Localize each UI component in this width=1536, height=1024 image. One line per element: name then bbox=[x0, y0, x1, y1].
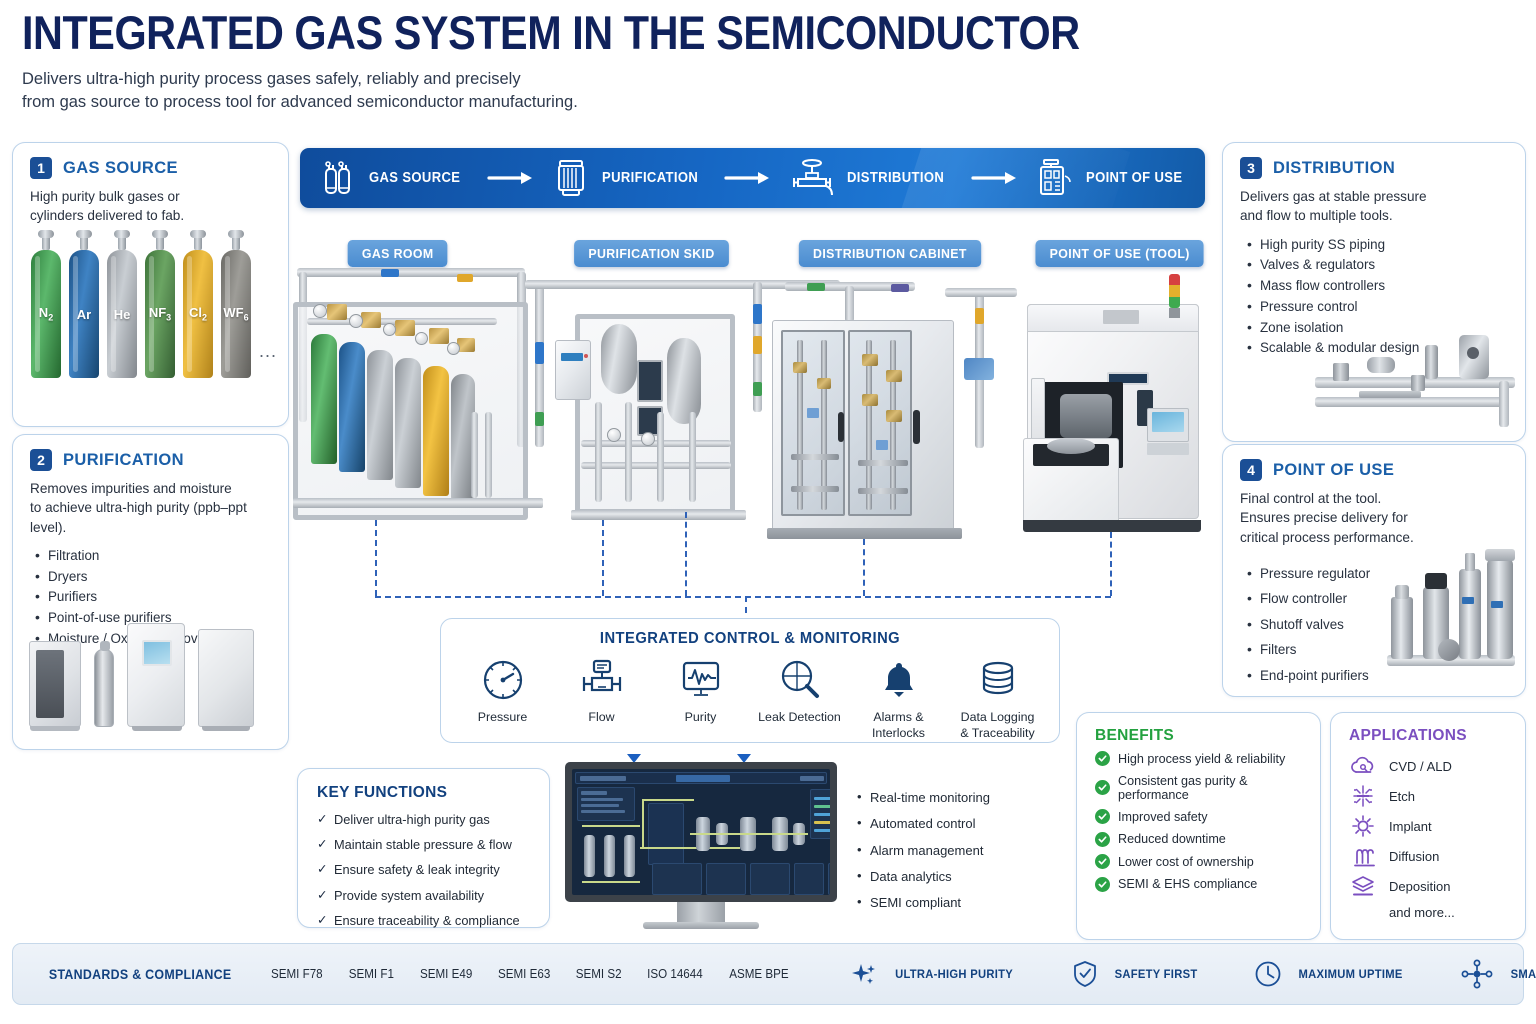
integrated-control-monitoring-panel: INTEGRATED CONTROL & MONITORING Pressure bbox=[440, 618, 1060, 743]
card-purification: 2 PURIFICATION Removes impurities and mo… bbox=[12, 434, 289, 750]
list-item: Maintain stable pressure & flow bbox=[317, 832, 549, 857]
control-item-label: Pressure bbox=[478, 710, 528, 726]
process-flow-banner: GAS SOURCE PURIFICATION bbox=[300, 148, 1205, 208]
tower-red bbox=[1169, 274, 1180, 285]
gas-cylinder: He bbox=[107, 228, 137, 378]
scada-vessel bbox=[584, 835, 595, 877]
gas-cylinder: Ar bbox=[69, 228, 99, 378]
scada-trend-bar bbox=[814, 797, 830, 800]
list-item: Valves & regulators bbox=[1245, 255, 1525, 276]
list-item: Data analytics bbox=[855, 864, 1035, 890]
cylinder-body: Ar bbox=[69, 250, 99, 378]
etch-plasma-icon bbox=[1349, 784, 1377, 808]
label-line-1: Flow bbox=[588, 710, 614, 726]
banner-step-label: DISTRIBUTION bbox=[847, 170, 944, 186]
subtitle-line-2: from gas source to process tool for adva… bbox=[22, 91, 1222, 114]
pressure-gauge bbox=[349, 314, 363, 328]
purifier-unit-with-display-image bbox=[127, 623, 185, 727]
brass-valve bbox=[361, 312, 381, 328]
scada-title-text bbox=[676, 775, 730, 782]
pressure-gauge bbox=[607, 428, 621, 442]
card-purification-desc: Removes impurities and moisture to achie… bbox=[13, 479, 288, 537]
scada-text bbox=[581, 810, 625, 813]
status-led bbox=[584, 354, 588, 358]
purification-equipment-images bbox=[29, 623, 254, 727]
valve-icon bbox=[788, 156, 836, 200]
banner-arrow-3 bbox=[971, 170, 1019, 186]
sparkle-icon bbox=[849, 959, 879, 989]
manifold-knob bbox=[1467, 347, 1479, 359]
manifold-drop-pipe bbox=[1499, 381, 1509, 427]
pipe-band-yellow bbox=[457, 274, 473, 282]
cabinet-inlet-pipe bbox=[845, 286, 854, 322]
internal-valve bbox=[817, 378, 831, 389]
connector-distribution bbox=[863, 539, 865, 596]
card-number-badge: 4 bbox=[1240, 459, 1262, 481]
scada-trend-bar bbox=[814, 829, 830, 832]
monitor-screen bbox=[572, 769, 830, 895]
skid-top-pipe bbox=[585, 280, 735, 289]
list-item: Ensure traceability & compliance bbox=[317, 908, 549, 933]
diffusion-heat-icon bbox=[1349, 844, 1377, 868]
control-box bbox=[555, 340, 591, 400]
banner-step-label: GAS SOURCE bbox=[369, 170, 460, 186]
footer-badge-label: SAFETY FIRST bbox=[1115, 967, 1198, 981]
signal-tower-icon bbox=[1169, 274, 1180, 308]
skid-pipe bbox=[625, 402, 632, 502]
pou-flow-controller bbox=[1438, 639, 1460, 661]
purifier-vessel bbox=[601, 324, 637, 394]
database-icon bbox=[975, 657, 1021, 703]
scada-bottom-panel bbox=[750, 863, 790, 895]
rack-cylinder-cl2 bbox=[423, 366, 449, 496]
internal-pipe bbox=[791, 486, 839, 492]
pou-regulator-stem bbox=[1465, 553, 1475, 571]
gas-cylinder: N2 bbox=[31, 228, 61, 378]
manifold-fitting bbox=[1333, 363, 1349, 381]
card-point-of-use-desc: Final control at the tool. Ensures preci… bbox=[1223, 489, 1525, 547]
tower-green bbox=[1169, 297, 1180, 308]
pou-blue-label bbox=[1491, 601, 1503, 608]
check-circle-icon bbox=[1095, 751, 1110, 766]
tool-vent-grille bbox=[1103, 310, 1139, 324]
control-item-purity: Purity bbox=[651, 657, 750, 741]
purifier-cabinet-open-image bbox=[29, 641, 81, 727]
banner-step-purification: PURIFICATION bbox=[551, 156, 709, 200]
process-tool-icon bbox=[1035, 156, 1075, 200]
applications-list: CVD / ALD Etch Implant Diffusion bbox=[1331, 751, 1525, 901]
check-circle-icon bbox=[1095, 780, 1110, 795]
internal-valve bbox=[886, 370, 902, 382]
control-item-label: Leak Detection bbox=[758, 710, 841, 726]
panel-pipe bbox=[485, 412, 492, 498]
skid-pipe bbox=[595, 402, 602, 502]
equipment-scene bbox=[285, 262, 1210, 617]
scada-pipeline bbox=[644, 799, 694, 801]
card-distribution-desc: Delivers gas at stable pressure and flow… bbox=[1223, 187, 1525, 226]
scada-monitor-image bbox=[565, 762, 845, 930]
application-label: Diffusion bbox=[1389, 849, 1439, 864]
list-item: Alarm management bbox=[855, 838, 1035, 864]
cylinder-label: He bbox=[114, 307, 131, 322]
shield-check-icon bbox=[1070, 959, 1100, 989]
standard-item: SEMI S2 bbox=[576, 967, 622, 981]
label-line-1: Purity bbox=[685, 710, 717, 726]
scada-text bbox=[581, 804, 619, 807]
card-number-badge: 1 bbox=[30, 157, 52, 179]
internal-indicator bbox=[876, 440, 888, 450]
standard-item: ASME BPE bbox=[729, 967, 788, 981]
footer-badge-ultra-high-purity: ULTRA-HIGH PURITY bbox=[849, 959, 1018, 989]
scada-chart-panel bbox=[828, 863, 830, 895]
desc-line-3: critical process performance. bbox=[1240, 528, 1513, 547]
pipe-band-yellow bbox=[975, 308, 984, 324]
gas-cylinder: NF3 bbox=[145, 228, 175, 378]
scada-pipeline bbox=[582, 881, 640, 883]
footer-bar: STANDARDS & COMPLIANCE SEMI F78 SEMI F1 … bbox=[12, 943, 1524, 1005]
pressure-gauge bbox=[447, 342, 460, 355]
list-item: Reduced downtime bbox=[1095, 832, 1320, 847]
control-item-pressure: Pressure bbox=[453, 657, 552, 741]
connector-purification-a bbox=[602, 520, 604, 596]
list-item: Filtration bbox=[33, 546, 288, 567]
scada-bottom-panel bbox=[706, 863, 746, 895]
pipe-band-purple bbox=[891, 284, 909, 292]
standard-item: SEMI E63 bbox=[498, 967, 550, 981]
pou-valve-cap bbox=[1395, 585, 1409, 599]
list-item: Provide system availability bbox=[317, 883, 549, 908]
card-applications: APPLICATIONS CVD / ALD Etch Implant bbox=[1330, 712, 1526, 940]
list-item: Diffusion bbox=[1349, 841, 1525, 871]
applications-more-label: and more... bbox=[1331, 905, 1525, 920]
control-box-display bbox=[561, 353, 583, 361]
card-number-badge: 2 bbox=[30, 449, 52, 471]
card-gas-source: 1 GAS SOURCE High purity bulk gases or c… bbox=[12, 142, 289, 427]
benefit-label: Consistent gas purity & performance bbox=[1118, 774, 1320, 802]
standard-item: ISO 14644 bbox=[648, 967, 704, 981]
alarm-bell-icon bbox=[876, 657, 922, 703]
scada-trend-bar bbox=[814, 813, 830, 816]
list-item: Pressure control bbox=[1245, 297, 1525, 318]
check-circle-icon bbox=[1095, 809, 1110, 824]
cylinder-label: Ar bbox=[77, 307, 91, 322]
internal-valve bbox=[793, 362, 807, 373]
process-chamber bbox=[1060, 394, 1112, 438]
rack-cylinder-ar bbox=[339, 342, 365, 472]
scada-status-text bbox=[800, 776, 824, 781]
pipe-band-green bbox=[753, 382, 762, 396]
scada-trend-bar bbox=[814, 805, 830, 808]
standards-label: STANDARDS & COMPLIANCE bbox=[49, 967, 231, 982]
control-item-label: Flow bbox=[588, 710, 614, 726]
cylinder-valve-icon bbox=[190, 228, 206, 250]
card-title: GAS SOURCE bbox=[63, 159, 178, 178]
list-item: Consistent gas purity & performance bbox=[1095, 774, 1320, 802]
skid-pipe bbox=[657, 412, 664, 502]
cabinet-internal-piping bbox=[787, 336, 839, 510]
control-item-label: Purity bbox=[685, 710, 717, 726]
control-panel-title: INTEGRATED CONTROL & MONITORING bbox=[456, 630, 1043, 648]
manifold-valve-stem bbox=[1425, 345, 1438, 379]
check-circle-icon bbox=[1095, 854, 1110, 869]
card-key-functions: KEY FUNCTIONS Deliver ultra-high purity … bbox=[297, 768, 550, 928]
cabinet-internal-piping bbox=[854, 336, 906, 510]
transfer-pipe-top bbox=[945, 288, 1017, 297]
list-item: Dryers bbox=[33, 567, 288, 588]
benefit-label: Lower cost of ownership bbox=[1118, 855, 1254, 869]
card-distribution: 3 DISTRIBUTION Delivers gas at stable pr… bbox=[1222, 142, 1526, 442]
skid-pipe bbox=[689, 412, 696, 502]
tower-base bbox=[1169, 308, 1180, 318]
pou-black-cap bbox=[1425, 573, 1447, 589]
benefit-label: High process yield & reliability bbox=[1118, 752, 1285, 766]
list-item: Implant bbox=[1349, 811, 1525, 841]
cylinder-label: Cl2 bbox=[189, 305, 207, 323]
transfer-pipe bbox=[975, 370, 984, 448]
scada-bottom-panel bbox=[794, 863, 824, 895]
internal-pipe bbox=[890, 340, 896, 510]
card-benefits: BENEFITS High process yield & reliabilit… bbox=[1076, 712, 1321, 940]
desc-line-2: Ensures precise delivery for bbox=[1240, 508, 1513, 527]
label-line-1: Data Logging bbox=[960, 710, 1034, 726]
cylinder-label: WF6 bbox=[223, 305, 248, 323]
list-item: SEMI compliant bbox=[855, 890, 1035, 916]
pou-valve-body bbox=[1391, 597, 1413, 659]
gas-cylinder: Cl2 bbox=[183, 228, 213, 378]
key-functions-title: KEY FUNCTIONS bbox=[298, 769, 549, 807]
footer-badge-label: MAXIMUM UPTIME bbox=[1299, 967, 1403, 981]
point-of-use-valve-block-image bbox=[1383, 545, 1523, 685]
pou-valve-top bbox=[1485, 549, 1515, 561]
tower-yellow bbox=[1169, 285, 1180, 296]
infographic-page: INTEGRATED GAS SYSTEM IN THE SEMICONDUCT… bbox=[0, 0, 1536, 1024]
implant-sun-icon bbox=[1349, 814, 1377, 838]
standard-item: SEMI E49 bbox=[420, 967, 472, 981]
control-item-data-logging: Data Logging & Traceability bbox=[948, 657, 1047, 741]
application-label: Deposition bbox=[1389, 879, 1450, 894]
list-item: Ensure safety & leak integrity bbox=[317, 857, 549, 882]
list-item: Mass flow controllers bbox=[1245, 276, 1525, 297]
wafer-disc bbox=[1047, 438, 1095, 454]
scada-tank bbox=[648, 803, 684, 865]
internal-indicator bbox=[807, 408, 819, 418]
banner-step-distribution: DISTRIBUTION bbox=[788, 156, 955, 200]
list-item: Lower cost of ownership bbox=[1095, 854, 1320, 869]
cylinder-body: NF3 bbox=[145, 250, 175, 378]
list-item: Etch bbox=[1349, 781, 1525, 811]
list-item: High purity SS piping bbox=[1245, 235, 1525, 256]
footer-badge-safety-first: SAFETY FIRST bbox=[1070, 959, 1201, 989]
pipe-band-yellow bbox=[753, 336, 762, 354]
desc-line-2: and flow to multiple tools. bbox=[1240, 206, 1513, 225]
internal-pipe bbox=[858, 488, 908, 494]
connector-gas-room bbox=[375, 520, 377, 596]
card-gas-source-header: 1 GAS SOURCE bbox=[13, 143, 288, 179]
manifold-crossbar bbox=[1359, 391, 1421, 398]
pressure-gauge bbox=[641, 432, 655, 446]
cylinder-body: N2 bbox=[31, 250, 61, 378]
check-circle-icon bbox=[1095, 877, 1110, 892]
card-title: POINT OF USE bbox=[1273, 461, 1394, 480]
pressure-gauge-icon bbox=[480, 657, 526, 703]
list-item: Purifiers bbox=[33, 587, 288, 608]
scada-pipeline bbox=[642, 799, 644, 849]
scada-text bbox=[581, 791, 607, 795]
label-line-1: Pressure bbox=[478, 710, 528, 726]
control-item-label: Data Logging & Traceability bbox=[960, 710, 1034, 741]
cylinder-valve-icon bbox=[38, 228, 54, 250]
cylinder-body: Cl2 bbox=[183, 250, 213, 378]
control-item-flow: Flow bbox=[552, 657, 651, 741]
control-item-alarms-interlocks: Alarms & Interlocks bbox=[849, 657, 948, 741]
cylinder-label: NF3 bbox=[149, 305, 171, 323]
gas-cylinders-icon bbox=[318, 158, 358, 198]
benefits-list: High process yield & reliability Consist… bbox=[1077, 751, 1320, 892]
cylinder-valve-icon bbox=[152, 228, 168, 250]
list-item: High process yield & reliability bbox=[1095, 751, 1320, 766]
card-distribution-header: 3 DISTRIBUTION bbox=[1223, 143, 1525, 179]
clock-icon bbox=[1253, 959, 1283, 989]
scada-trend-bar bbox=[814, 821, 830, 824]
cylinder-label: N2 bbox=[39, 305, 53, 323]
pressure-gauge bbox=[415, 332, 428, 345]
list-item: CVD / ALD bbox=[1349, 751, 1525, 781]
rack-cylinder-nf3 bbox=[395, 358, 421, 488]
cylinder-valve-icon bbox=[76, 228, 92, 250]
pressure-gauge bbox=[313, 304, 327, 318]
deposition-layers-icon bbox=[1349, 874, 1377, 898]
pou-shutoff-valve-body bbox=[1487, 559, 1513, 659]
label-line-1: Leak Detection bbox=[758, 710, 841, 726]
scada-vessel bbox=[604, 835, 615, 877]
rack-cylinder-n2 bbox=[311, 334, 337, 464]
list-item: Real-time monitoring bbox=[855, 785, 1035, 811]
card-title: DISTRIBUTION bbox=[1273, 159, 1395, 178]
list-item: Automated control bbox=[855, 811, 1035, 837]
gas-cylinder: WF6 bbox=[221, 228, 251, 378]
distribution-manifold-image bbox=[1315, 331, 1520, 431]
scada-logo-text bbox=[580, 776, 626, 781]
banner-step-point-of-use: POINT OF USE bbox=[1035, 156, 1193, 200]
monitor-stand bbox=[677, 902, 725, 924]
brass-valve bbox=[429, 328, 449, 344]
card-title: PURIFICATION bbox=[63, 451, 184, 470]
banner-step-label: POINT OF USE bbox=[1086, 170, 1182, 186]
connector-purification-b bbox=[685, 512, 687, 596]
list-item: Deliver ultra-high purity gas bbox=[317, 807, 549, 832]
pou-blue-label bbox=[1462, 597, 1474, 604]
purifier-vessel bbox=[667, 338, 701, 424]
filter-canister-icon bbox=[551, 156, 591, 200]
list-item: Improved safety bbox=[1095, 809, 1320, 824]
cabinet-glass-door-right[interactable] bbox=[848, 330, 912, 516]
manifold-gauge bbox=[1367, 357, 1395, 373]
desc-line-1: Delivers gas at stable pressure bbox=[1240, 187, 1513, 206]
label-line-2: Interlocks bbox=[872, 726, 925, 742]
page-subtitle: Delivers ultra-high purity process gases… bbox=[22, 68, 1222, 115]
application-label: Implant bbox=[1389, 819, 1432, 834]
hmi-keypad[interactable] bbox=[1147, 443, 1189, 455]
scada-text bbox=[581, 798, 623, 801]
banner-step-gas-source: GAS SOURCE bbox=[318, 158, 471, 198]
list-item: SEMI & EHS compliance bbox=[1095, 877, 1320, 892]
pipe-band-blue bbox=[381, 269, 399, 277]
footer-badge-label: ULTRA-HIGH PURITY bbox=[895, 967, 1013, 981]
overhead-pipe bbox=[297, 268, 525, 277]
footer-badge-label: SMART & CONNECTED bbox=[1510, 967, 1536, 981]
desc-line-2: to achieve ultra-high purity (ppb–ppt le… bbox=[30, 498, 278, 537]
application-label: Etch bbox=[1389, 789, 1415, 804]
connector-bus bbox=[375, 596, 1111, 598]
check-circle-icon bbox=[1095, 832, 1110, 847]
footer-badge-smart-connected: SMART & CONNECTED bbox=[1460, 959, 1536, 989]
control-panel-items: Pressure Flow bbox=[441, 657, 1059, 741]
cabinet-glass-door-left[interactable] bbox=[781, 330, 845, 516]
pipe-band-blue bbox=[535, 342, 544, 364]
banner-step-label: PURIFICATION bbox=[602, 170, 698, 186]
internal-pipe bbox=[858, 460, 908, 466]
card-purification-header: 2 PURIFICATION bbox=[13, 435, 288, 471]
internal-pipe bbox=[791, 454, 839, 460]
skid-base bbox=[571, 510, 746, 520]
page-title: INTEGRATED GAS SYSTEM IN THE SEMICONDUCT… bbox=[22, 8, 1078, 58]
pressure-gauge bbox=[383, 323, 396, 336]
purifier-display-panel bbox=[637, 360, 663, 402]
card-gas-source-desc: High purity bulk gases or cylinders deli… bbox=[13, 187, 288, 226]
hmi-screen bbox=[1152, 412, 1184, 432]
control-item-label: Alarms & Interlocks bbox=[872, 710, 925, 741]
applications-title: APPLICATIONS bbox=[1331, 713, 1525, 751]
monitor-base bbox=[643, 922, 759, 929]
manifold-pipe bbox=[1315, 397, 1505, 407]
rack-cylinder-he bbox=[367, 350, 393, 480]
hmi-panel[interactable] bbox=[1147, 408, 1189, 442]
internal-valve bbox=[862, 354, 878, 366]
key-functions-list: Deliver ultra-high purity gas Maintain s… bbox=[298, 807, 549, 933]
cylinder-valve-icon bbox=[228, 228, 244, 250]
door-handle-right[interactable] bbox=[913, 410, 920, 444]
internal-valve bbox=[886, 410, 902, 422]
internal-pipe bbox=[821, 340, 827, 510]
cylinder-ellipsis: ... bbox=[259, 341, 277, 378]
leak-detection-magnifier-icon bbox=[777, 657, 823, 703]
pipe-band-blue bbox=[753, 304, 762, 324]
card-point-of-use-header: 4 POINT OF USE bbox=[1223, 445, 1525, 481]
application-label: CVD / ALD bbox=[1389, 759, 1452, 774]
scada-feature-list: Real-time monitoring Automated control A… bbox=[855, 785, 1035, 916]
standard-item: SEMI F1 bbox=[349, 967, 394, 981]
skid-base bbox=[293, 498, 543, 508]
arrow-right-icon bbox=[487, 170, 535, 186]
subtitle-line-1: Delivers ultra-high purity process gases… bbox=[22, 68, 1222, 91]
skid-pipe bbox=[581, 440, 731, 447]
door-handle-left[interactable] bbox=[838, 412, 844, 442]
standard-item: SEMI F78 bbox=[271, 967, 323, 981]
scada-pipeline bbox=[640, 847, 740, 849]
banner-arrow-2 bbox=[724, 170, 772, 186]
purifier-vessel-image bbox=[94, 649, 114, 727]
desc-line-1: Final control at the tool. bbox=[1240, 489, 1513, 508]
desc-line-1: High purity bulk gases or bbox=[30, 187, 276, 206]
cvd-cloud-icon bbox=[1349, 755, 1377, 777]
cabinet-base bbox=[767, 528, 962, 539]
list-item: Deposition bbox=[1349, 871, 1525, 901]
cylinder-body: WF6 bbox=[221, 250, 251, 378]
purity-waveform-icon bbox=[678, 657, 724, 703]
card-number-badge: 3 bbox=[1240, 157, 1262, 179]
scada-vessel bbox=[624, 835, 635, 877]
connector-tool bbox=[1110, 532, 1112, 596]
